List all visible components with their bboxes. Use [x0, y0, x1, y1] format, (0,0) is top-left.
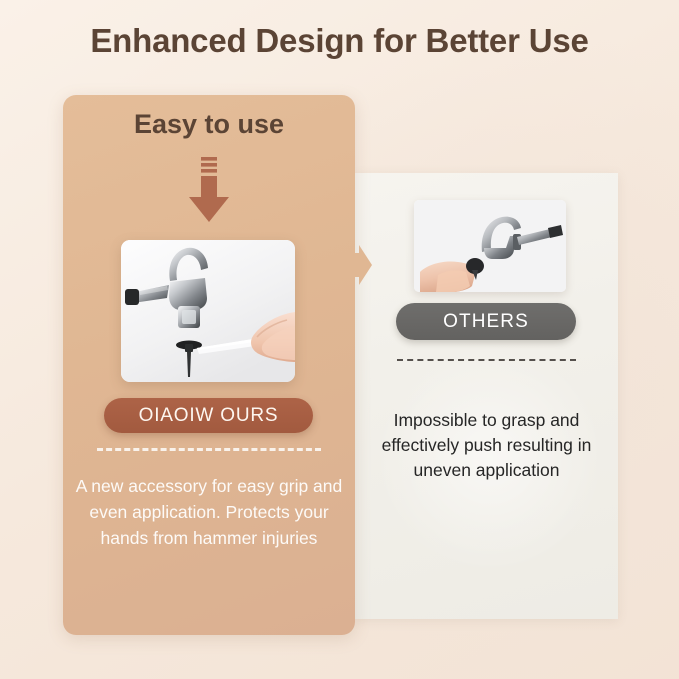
- ours-badge-label: OIAOIW OURS: [139, 405, 279, 427]
- ours-photo: [121, 240, 295, 382]
- down-arrow-icon: [188, 157, 230, 223]
- others-panel: OTHERS Impossible to grasp and effective…: [355, 173, 618, 619]
- ours-panel: Easy to use: [63, 95, 355, 635]
- right-arrow-icon: [346, 243, 372, 287]
- ours-description: A new accessory for easy grip and even a…: [75, 473, 343, 551]
- ours-heading: Easy to use: [63, 109, 355, 140]
- page-title: Enhanced Design for Better Use: [0, 22, 679, 60]
- others-divider: [397, 359, 576, 361]
- others-description: Impossible to grasp and effectively push…: [365, 408, 608, 483]
- fingers-holding-nail-photo-icon: [414, 200, 566, 292]
- hammer-nail-tool-photo-icon: [121, 240, 295, 382]
- ours-badge: OIAOIW OURS: [104, 398, 313, 433]
- comparison-infographic: Enhanced Design for Better Use: [0, 0, 679, 679]
- ours-divider: [97, 448, 321, 451]
- others-badge: OTHERS: [396, 303, 576, 340]
- others-photo: [414, 200, 566, 292]
- others-badge-label: OTHERS: [443, 311, 529, 333]
